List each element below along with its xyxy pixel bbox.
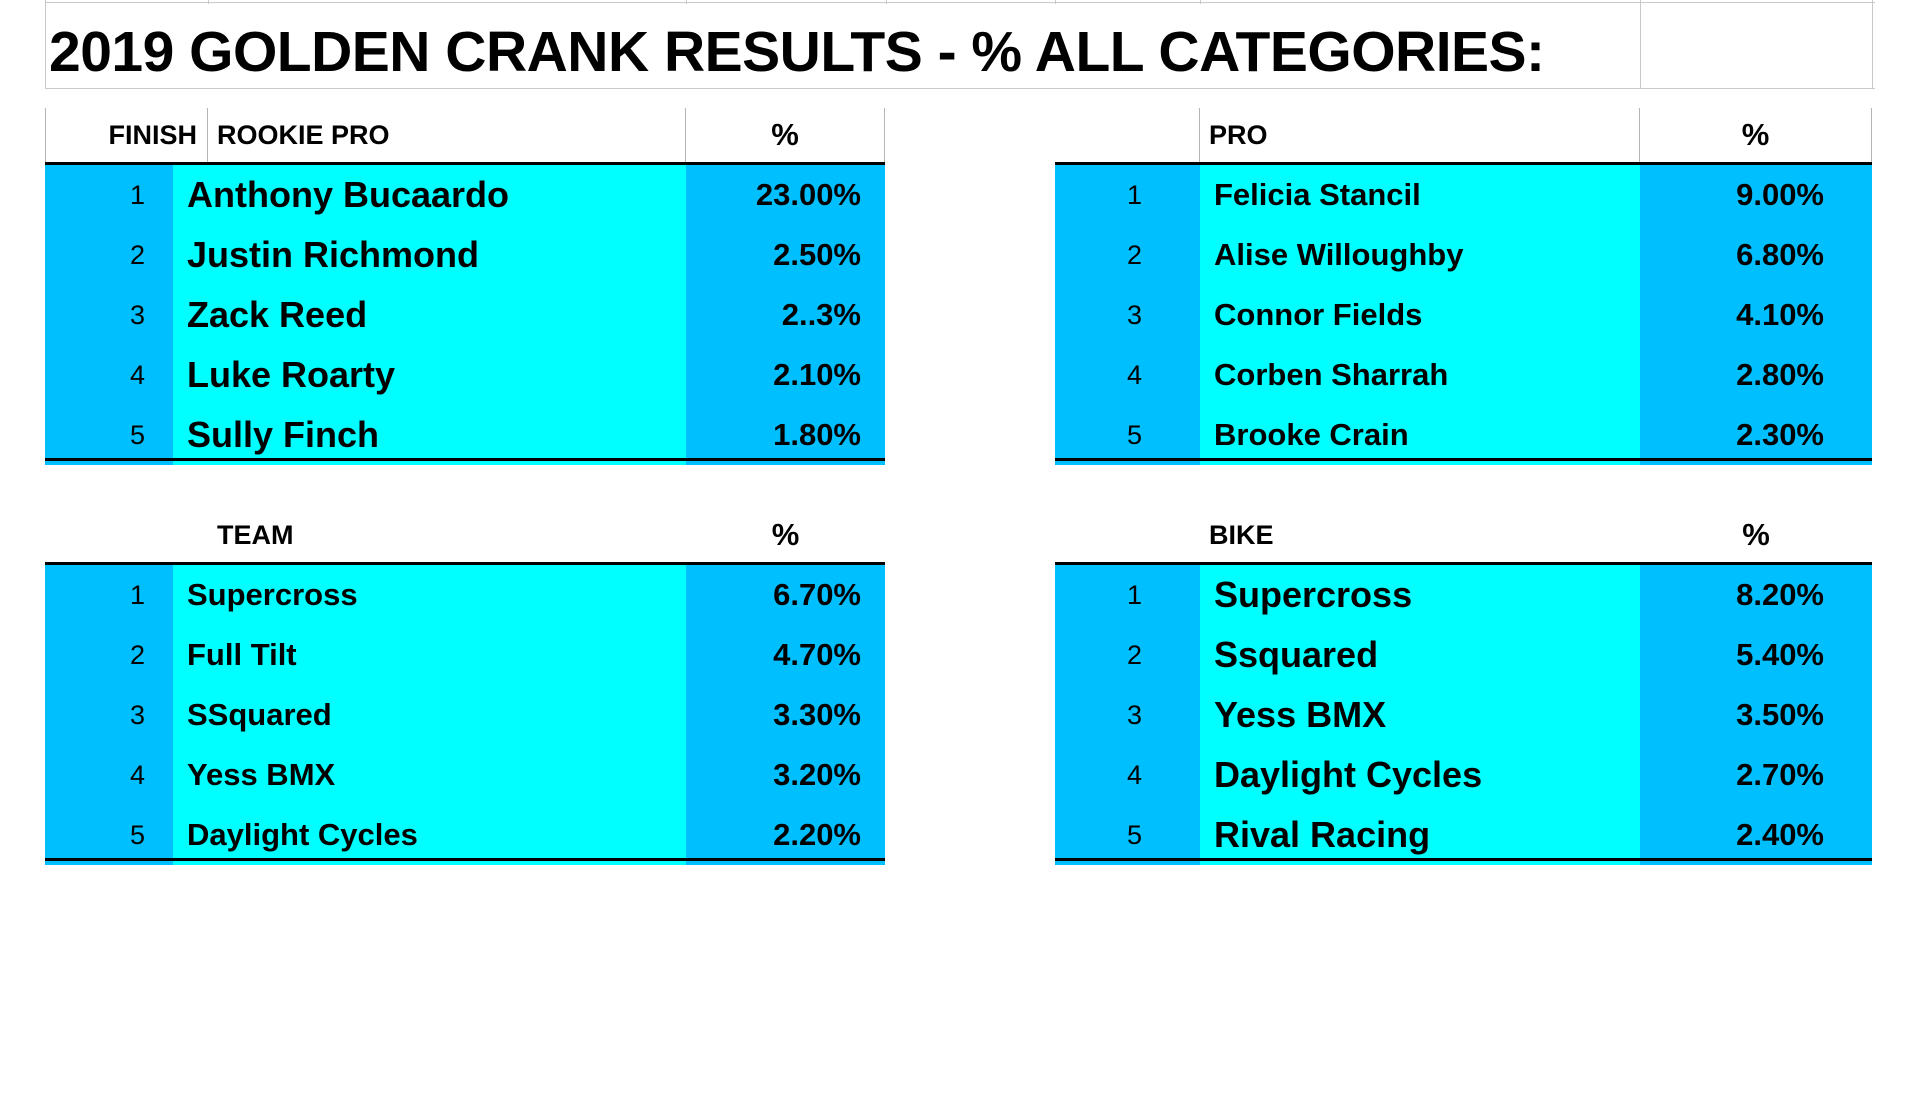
cell-name: Corben Sharrah	[1200, 345, 1640, 405]
gridline-col-f	[1200, 0, 1201, 4]
cell-name: Justin Richmond	[173, 225, 686, 285]
table-team-header: TEAM %	[45, 508, 885, 562]
table-row[interactable]: 3 Connor Fields 4.10%	[1055, 285, 1872, 345]
header-percent: %	[1640, 108, 1872, 162]
table-row[interactable]: 1 Anthony Bucaardo 23.00%	[45, 165, 885, 225]
table-row[interactable]: 1 Felicia Stancil 9.00%	[1055, 165, 1872, 225]
cell-percent: 3.30%	[686, 685, 885, 745]
table-row[interactable]: 5 Rival Racing 2.40%	[1055, 805, 1872, 865]
gridline-col-b	[208, 0, 209, 4]
cell-finish: 3	[45, 685, 173, 745]
cell-name: Brooke Crain	[1200, 405, 1640, 465]
cell-percent: 9.00%	[1640, 165, 1872, 225]
cell-name: Yess BMX	[1200, 685, 1640, 745]
table-rookie-pro-header: FINISH ROOKIE PRO %	[45, 108, 885, 162]
table-rookie-pro: FINISH ROOKIE PRO % 1 Anthony Bucaardo 2…	[45, 108, 885, 465]
table-row[interactable]: 3 Zack Reed 2..3%	[45, 285, 885, 345]
cell-name: Supercross	[173, 565, 686, 625]
cell-finish: 5	[1055, 405, 1200, 465]
cell-finish: 3	[1055, 285, 1200, 345]
table-rookie-pro-body: 1 Anthony Bucaardo 23.00% 2 Justin Richm…	[45, 162, 885, 465]
header-percent: %	[1640, 508, 1872, 562]
cell-percent: 2.20%	[686, 805, 885, 865]
cell-name: Rival Racing	[1200, 805, 1640, 865]
table-row[interactable]: 2 Full Tilt 4.70%	[45, 625, 885, 685]
table-row[interactable]: 5 Sully Finch 1.80%	[45, 405, 885, 465]
cell-percent: 2.80%	[1640, 345, 1872, 405]
cell-name: Supercross	[1200, 565, 1640, 625]
cell-finish: 2	[45, 225, 173, 285]
cell-finish: 3	[45, 285, 173, 345]
gridline-col-d	[886, 0, 887, 4]
cell-finish: 2	[45, 625, 173, 685]
header-bike: BIKE	[1200, 508, 1640, 562]
gridline-top	[45, 2, 1875, 3]
table-team: TEAM % 1 Supercross 6.70% 2 Full Tilt 4.…	[45, 508, 885, 865]
cell-percent: 2.70%	[1640, 745, 1872, 805]
cell-finish: 3	[1055, 685, 1200, 745]
table-row[interactable]: 4 Yess BMX 3.20%	[45, 745, 885, 805]
cell-finish: 1	[1055, 565, 1200, 625]
cell-finish: 5	[45, 805, 173, 865]
table-row[interactable]: 1 Supercross 8.20%	[1055, 565, 1872, 625]
table-row[interactable]: 3 SSquared 3.30%	[45, 685, 885, 745]
cell-percent: 6.70%	[686, 565, 885, 625]
cell-name: Yess BMX	[173, 745, 686, 805]
table-row[interactable]: 2 Ssquared 5.40%	[1055, 625, 1872, 685]
table-row[interactable]: 5 Brooke Crain 2.30%	[1055, 405, 1872, 465]
table-pro-bottom-rule	[1055, 458, 1872, 461]
cell-finish: 2	[1055, 625, 1200, 685]
cell-name: Sully Finch	[173, 405, 686, 465]
cell-finish: 5	[45, 405, 173, 465]
cell-percent: 6.80%	[1640, 225, 1872, 285]
header-team: TEAM	[208, 508, 686, 562]
cell-name: Anthony Bucaardo	[173, 165, 686, 225]
table-row[interactable]: 1 Supercross 6.70%	[45, 565, 885, 625]
cell-name: Full Tilt	[173, 625, 686, 685]
table-pro: PRO % 1 Felicia Stancil 9.00% 2 Alise Wi…	[1055, 108, 1872, 465]
table-row[interactable]: 2 Alise Willoughby 6.80%	[1055, 225, 1872, 285]
cell-name: Daylight Cycles	[1200, 745, 1640, 805]
cell-finish: 4	[1055, 745, 1200, 805]
header-percent: %	[686, 508, 885, 562]
cell-percent: 2.10%	[686, 345, 885, 405]
page-title: 2019 GOLDEN CRANK RESULTS - % ALL CATEGO…	[49, 14, 1545, 90]
table-team-body: 1 Supercross 6.70% 2 Full Tilt 4.70% 3 S…	[45, 562, 885, 865]
cell-finish: 1	[45, 565, 173, 625]
cell-percent: 2..3%	[686, 285, 885, 345]
header-finish-blank	[1055, 108, 1200, 162]
table-team-bottom-rule	[45, 858, 885, 861]
cell-name: Ssquared	[1200, 625, 1640, 685]
gridline-col-c	[686, 0, 687, 4]
cell-name: Alise Willoughby	[1200, 225, 1640, 285]
header-pro: PRO	[1200, 108, 1640, 162]
header-finish: FINISH	[45, 108, 208, 162]
cell-percent: 4.10%	[1640, 285, 1872, 345]
cell-percent: 23.00%	[686, 165, 885, 225]
cell-percent: 1.80%	[686, 405, 885, 465]
cell-finish: 4	[45, 745, 173, 805]
table-bike-header: BIKE %	[1055, 508, 1872, 562]
table-row[interactable]: 3 Yess BMX 3.50%	[1055, 685, 1872, 745]
table-bike-body: 1 Supercross 8.20% 2 Ssquared 5.40% 3 Ye…	[1055, 562, 1872, 865]
table-row[interactable]: 2 Justin Richmond 2.50%	[45, 225, 885, 285]
cell-percent: 3.20%	[686, 745, 885, 805]
table-bike-bottom-rule	[1055, 858, 1872, 861]
cell-percent: 8.20%	[1640, 565, 1872, 625]
cell-name: Zack Reed	[173, 285, 686, 345]
cell-finish: 1	[45, 165, 173, 225]
cell-finish: 2	[1055, 225, 1200, 285]
table-pro-header: PRO %	[1055, 108, 1872, 162]
cell-percent: 5.40%	[1640, 625, 1872, 685]
cell-percent: 2.30%	[1640, 405, 1872, 465]
cell-name: Luke Roarty	[173, 345, 686, 405]
table-bike: BIKE % 1 Supercross 8.20% 2 Ssquared 5.4…	[1055, 508, 1872, 865]
cell-percent: 2.50%	[686, 225, 885, 285]
cell-name: Felicia Stancil	[1200, 165, 1640, 225]
table-rookie-pro-bottom-rule	[45, 458, 885, 461]
table-row[interactable]: 4 Luke Roarty 2.10%	[45, 345, 885, 405]
cell-percent: 3.50%	[1640, 685, 1872, 745]
table-pro-body: 1 Felicia Stancil 9.00% 2 Alise Willough…	[1055, 162, 1872, 465]
cell-name: SSquared	[173, 685, 686, 745]
cell-finish: 4	[1055, 345, 1200, 405]
gridline-col-e	[1055, 0, 1056, 4]
header-rookie-pro: ROOKIE PRO	[208, 108, 686, 162]
header-finish-blank	[1055, 508, 1200, 562]
cell-percent: 2.40%	[1640, 805, 1872, 865]
cell-finish: 5	[1055, 805, 1200, 865]
cell-finish: 1	[1055, 165, 1200, 225]
table-row[interactable]: 5 Daylight Cycles 2.20%	[45, 805, 885, 865]
cell-name: Daylight Cycles	[173, 805, 686, 865]
title-row: 2019 GOLDEN CRANK RESULTS - % ALL CATEGO…	[45, 8, 1875, 90]
header-percent: %	[686, 108, 885, 162]
cell-name: Connor Fields	[1200, 285, 1640, 345]
cell-finish: 4	[45, 345, 173, 405]
cell-percent: 4.70%	[686, 625, 885, 685]
header-finish-blank	[45, 508, 208, 562]
table-row[interactable]: 4 Daylight Cycles 2.70%	[1055, 745, 1872, 805]
table-row[interactable]: 4 Corben Sharrah 2.80%	[1055, 345, 1872, 405]
